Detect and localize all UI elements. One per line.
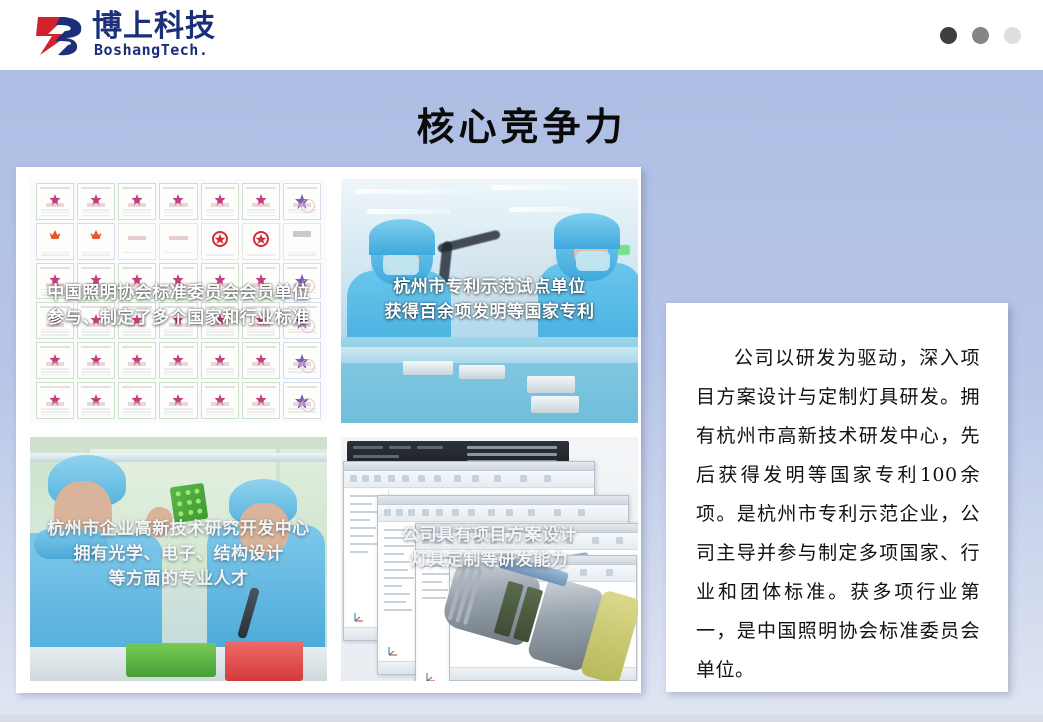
tile-certificates-wall[interactable]: 中国照明协会标准委员会会员单位 参与、制定了多个国家和行业标准 xyxy=(30,179,327,423)
caption-line: 等方面的专业人才 xyxy=(30,567,327,592)
certificate-thumb xyxy=(242,183,280,220)
certificate-thumb xyxy=(201,342,239,379)
window-titlebar xyxy=(344,462,594,471)
certificate-thumb xyxy=(77,342,115,379)
caption-line: 中国照明协会标准委员会会员单位 xyxy=(30,281,327,306)
certificate-thumb xyxy=(77,183,115,220)
certificate-thumb xyxy=(242,342,280,379)
tile-cleanroom-production[interactable]: 杭州市专利示范试点单位 获得百余项发明等国家专利 xyxy=(341,179,638,423)
logo-chinese-text: 博上科技 xyxy=(92,12,216,42)
header-bar: 博上科技 BoshangTech. xyxy=(0,0,1043,70)
header-dots-group xyxy=(940,27,1021,44)
certificate-thumb xyxy=(118,382,156,419)
ceiling-light xyxy=(367,209,451,214)
worker-hood-top xyxy=(554,213,620,249)
tile-caption-certificates: 中国照明协会标准委员会会员单位 参与、制定了多个国家和行业标准 xyxy=(30,281,327,331)
description-text: 公司以研发为驱动，深入项目方案设计与定制灯具研发。拥有杭州市高新技术研发中心，先… xyxy=(696,339,980,690)
logo-english-text: BoshangTech. xyxy=(94,42,208,58)
certificate-thumb xyxy=(36,342,74,379)
ceiling-light xyxy=(491,185,587,190)
description-panel: 公司以研发为驱动，深入项目方案设计与定制灯具研发。拥有杭州市高新技术研发中心，先… xyxy=(666,303,1008,692)
caption-line: 公司具有项目方案设计 xyxy=(341,523,638,548)
certificate-thumb xyxy=(77,223,115,260)
dot-1[interactable] xyxy=(940,27,957,44)
certificate-thumb xyxy=(283,223,321,260)
ribbon-toolbar xyxy=(344,471,594,488)
dot-2[interactable] xyxy=(972,27,989,44)
caption-line: 杭州市企业高新技术研究开发中心 xyxy=(30,517,327,542)
certificate-thumb xyxy=(159,342,197,379)
tile-caption-rnd-lab: 杭州市企业高新技术研究开发中心 拥有光学、电子、结构设计 等方面的专业人才 xyxy=(30,517,327,592)
boshang-b-logo-icon xyxy=(36,14,86,58)
certificate-thumb xyxy=(201,223,239,260)
component-tray xyxy=(126,643,216,677)
certificate-thumb xyxy=(159,183,197,220)
ceiling-light xyxy=(355,189,475,194)
axis-triad-icon xyxy=(352,610,366,624)
certificate-thumb xyxy=(283,382,321,419)
certificate-thumb xyxy=(159,382,197,419)
product-box xyxy=(527,376,575,393)
certificate-thumb xyxy=(36,223,74,260)
axis-triad-icon xyxy=(424,670,438,681)
certificate-thumb xyxy=(77,382,115,419)
axis-triad-icon xyxy=(386,644,400,658)
red-crate xyxy=(225,641,303,681)
caption-line: 拥有光学、电子、结构设计 xyxy=(30,542,327,567)
page-title: 核心竞争力 xyxy=(0,96,1043,151)
certificate-thumb xyxy=(118,223,156,260)
certificate-thumb xyxy=(242,382,280,419)
product-box xyxy=(459,365,505,379)
certificate-thumb xyxy=(159,223,197,260)
certificate-thumb xyxy=(118,342,156,379)
tile-caption-cad: 公司具有项目方案设计 灯具定制等研发能力 xyxy=(341,523,638,573)
tile-caption-cleanroom: 杭州市专利示范试点单位 获得百余项发明等国家专利 xyxy=(341,275,638,325)
worker-hood-top xyxy=(369,219,435,255)
certificate-thumb xyxy=(118,183,156,220)
product-box xyxy=(531,396,579,413)
dot-3[interactable] xyxy=(1004,27,1021,44)
ribbon-toolbar xyxy=(378,505,628,522)
tile-rnd-lab[interactable]: 杭州市企业高新技术研究开发中心 拥有光学、电子、结构设计 等方面的专业人才 xyxy=(30,437,327,681)
certificate-thumb xyxy=(283,183,321,220)
image-collage-card: 中国照明协会标准委员会会员单位 参与、制定了多个国家和行业标准 xyxy=(16,167,641,693)
certificate-thumb xyxy=(201,382,239,419)
certificate-thumb xyxy=(201,183,239,220)
ceiling-light xyxy=(509,207,581,212)
certificate-thumb xyxy=(242,223,280,260)
company-logo[interactable]: 博上科技 BoshangTech. xyxy=(36,12,251,60)
window-titlebar xyxy=(378,496,628,505)
tile-cad-design[interactable]: 公司具有项目方案设计 灯具定制等研发能力 xyxy=(341,437,638,681)
conveyor-edge xyxy=(341,347,638,363)
certificate-thumb xyxy=(283,342,321,379)
certificate-thumb xyxy=(36,382,74,419)
caption-line: 参与、制定了多个国家和行业标准 xyxy=(30,306,327,331)
caption-line: 获得百余项发明等国家专利 xyxy=(341,300,638,325)
worker-mask xyxy=(576,251,610,271)
caption-line: 杭州市专利示范试点单位 xyxy=(341,275,638,300)
presentation-slide: 博上科技 BoshangTech. 核心竞争力 xyxy=(0,0,1043,722)
footer-strip xyxy=(0,715,1043,722)
photo-grid: 中国照明协会标准委员会会员单位 参与、制定了多个国家和行业标准 xyxy=(30,179,626,681)
caption-line: 灯具定制等研发能力 xyxy=(341,548,638,573)
product-box xyxy=(403,361,453,375)
slide-stage: 核心竞争力 xyxy=(0,70,1043,715)
certificate-thumb xyxy=(36,183,74,220)
worker-mask xyxy=(383,255,419,275)
